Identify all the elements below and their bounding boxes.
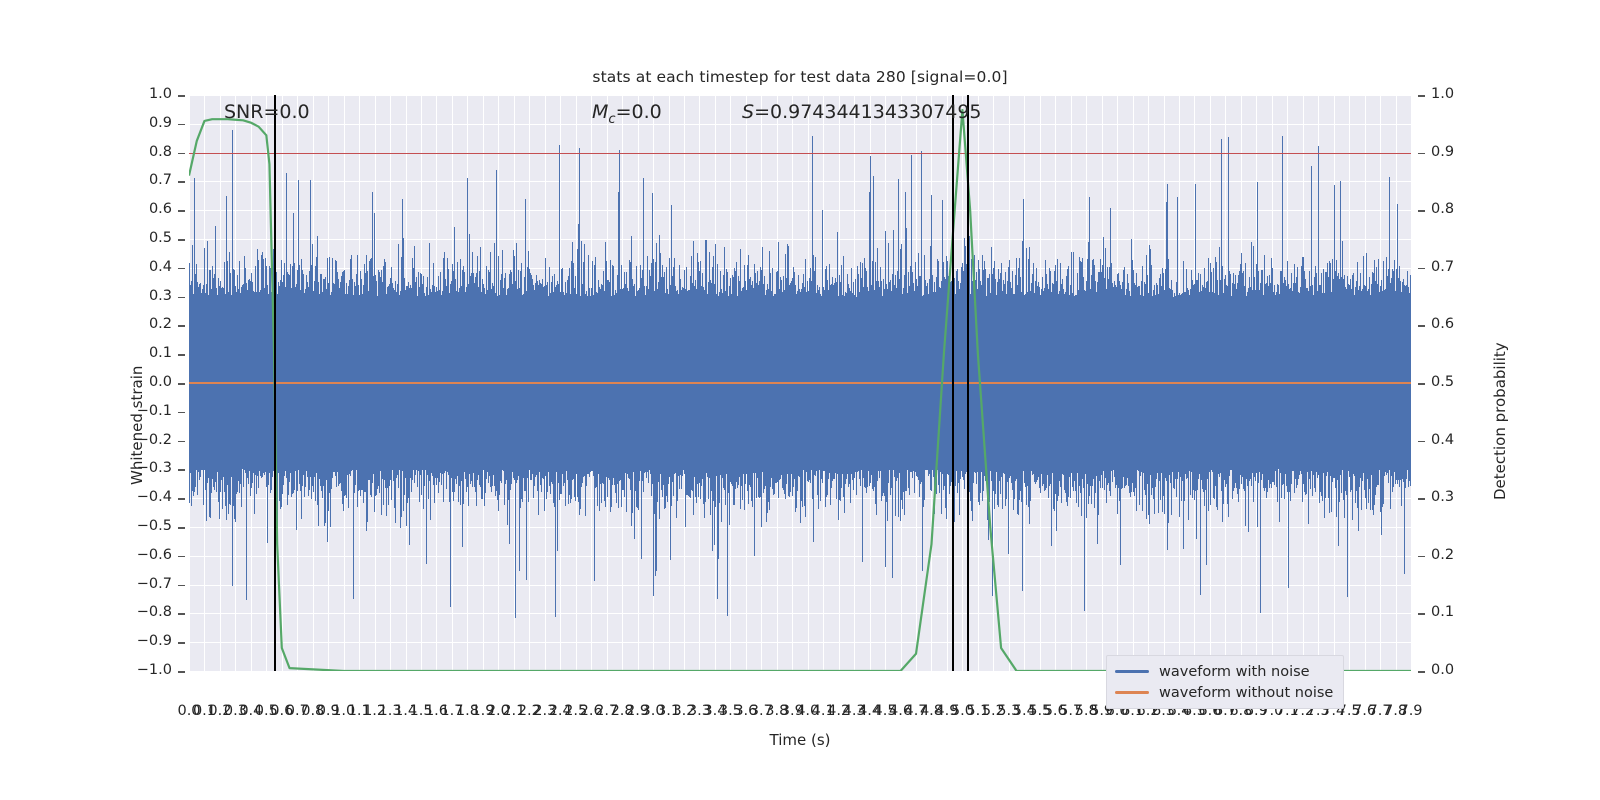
annotation-snr: SNR=0.0: [224, 101, 310, 123]
y-axis-left-tick-mark: [178, 181, 185, 183]
y-axis-left-tick-mark: [178, 585, 185, 587]
y-axis-right-tick-mark: [1418, 268, 1425, 270]
y-axis-right-tick-label: 0.4: [1431, 432, 1454, 448]
y-axis-left-tick-mark: [178, 412, 185, 414]
y-axis-left-tick-label: −0.4: [0, 489, 172, 505]
legend-swatch: [1115, 670, 1149, 673]
y-axis-right-tick-label: 0.2: [1431, 547, 1454, 563]
y-axis-left-tick-mark: [178, 469, 185, 471]
y-axis-right-tick-label: 0.9: [1431, 144, 1454, 160]
y-axis-right-tick-label: 0.6: [1431, 316, 1454, 332]
event-marker-line: [967, 95, 969, 671]
y-axis-left-tick-label: −0.3: [0, 460, 172, 476]
x-axis-tick-label: 7.9: [1399, 703, 1422, 719]
y-axis-right-tick-label: 0.8: [1431, 201, 1454, 217]
y-axis-left-tick-mark: [178, 297, 185, 299]
y-axis-left-tick-label: −0.5: [0, 518, 172, 534]
y-axis-left-tick-mark: [178, 325, 185, 327]
y-axis-left-tick-label: 0.1: [0, 345, 172, 361]
y-axis-left-tick-mark: [178, 642, 185, 644]
y-axis-right-tick-mark: [1418, 95, 1425, 97]
legend-item: waveform with noise: [1115, 661, 1333, 682]
y-axis-left-tick-label: −0.7: [0, 576, 172, 592]
y-axis-left-tick-mark: [178, 527, 185, 529]
y-axis-left-tick-label: −0.8: [0, 604, 172, 620]
y-axis-left-tick-mark: [178, 124, 185, 126]
annotation-chirp-mass-symbol: M: [592, 101, 608, 123]
y-axis-left-tick-label: 0.3: [0, 288, 172, 304]
y-axis-right-tick-mark: [1418, 613, 1425, 615]
y-axis-left-tick-label: 0.8: [0, 144, 172, 160]
annotation-chirp-mass: Mc=0.0: [592, 101, 662, 127]
y-axis-right-tick-mark: [1418, 441, 1425, 443]
y-axis-right-tick-mark: [1418, 210, 1425, 212]
y-axis-left-tick-label: 0.4: [0, 259, 172, 275]
y-axis-left-tick-mark: [178, 613, 185, 615]
y-axis-left-tick-mark: [178, 556, 185, 558]
figure: stats at each timestep for test data 280…: [0, 0, 1600, 800]
y-axis-left-tick-mark: [178, 268, 185, 270]
y-axis-left-tick-label: 0.7: [0, 172, 172, 188]
event-marker-line: [952, 95, 954, 671]
y-axis-left-tick-mark: [178, 153, 185, 155]
y-axis-left-tick-label: 0.0: [0, 374, 172, 390]
plot-area: [189, 95, 1411, 671]
y-axis-right-tick-mark: [1418, 383, 1425, 385]
y-axis-right-tick-label: 0.1: [1431, 604, 1454, 620]
y-axis-right-tick-label: 0.0: [1431, 662, 1454, 678]
annotation-score: S=0.9743441343307495: [742, 101, 982, 123]
y-axis-left-tick-mark: [178, 239, 185, 241]
y-axis-right-tick-label: 0.5: [1431, 374, 1454, 390]
legend: waveform with noisewaveform without nois…: [1106, 655, 1344, 709]
detection-probability-series: [189, 95, 1411, 671]
y-axis-right-tick-label: 0.7: [1431, 259, 1454, 275]
y-axis-left-tick-mark: [178, 441, 185, 443]
y-axis-left-tick-mark: [178, 671, 185, 673]
annotation-chirp-mass-value: =0.0: [616, 101, 662, 123]
y-axis-left-tick-label: −0.9: [0, 633, 172, 649]
y-axis-left-tick-label: −1.0: [0, 662, 172, 678]
probability-curve: [189, 110, 1411, 671]
y-axis-left-tick-label: 1.0: [0, 86, 172, 102]
y-axis-right-label: Detection probability: [1491, 342, 1509, 500]
legend-item: waveform without noise: [1115, 682, 1333, 703]
y-axis-right-tick-mark: [1418, 325, 1425, 327]
legend-swatch: [1115, 691, 1149, 694]
y-axis-left-tick-label: 0.5: [0, 230, 172, 246]
y-axis-right-tick-label: 1.0: [1431, 86, 1454, 102]
chart-title: stats at each timestep for test data 280…: [0, 68, 1600, 86]
event-marker-line: [274, 95, 276, 671]
legend-label: waveform with noise: [1159, 664, 1310, 680]
y-axis-left-tick-mark: [178, 498, 185, 500]
y-axis-left-tick-label: −0.6: [0, 547, 172, 563]
y-axis-left-tick-label: −0.1: [0, 403, 172, 419]
legend-label: waveform without noise: [1159, 685, 1333, 701]
y-axis-left-tick-mark: [178, 354, 185, 356]
annotation-score-symbol: S: [742, 101, 754, 123]
y-axis-right-tick-label: 0.3: [1431, 489, 1454, 505]
y-axis-left-tick-label: 0.9: [0, 115, 172, 131]
y-axis-left-tick-mark: [178, 383, 185, 385]
y-axis-right-tick-mark: [1418, 556, 1425, 558]
y-axis-left-tick-label: 0.2: [0, 316, 172, 332]
annotation-chirp-mass-subscript: c: [608, 112, 615, 127]
x-axis-label: Time (s): [0, 731, 1600, 749]
annotation-score-value: =0.9743441343307495: [754, 101, 981, 123]
y-axis-right-tick-mark: [1418, 498, 1425, 500]
y-axis-left-tick-mark: [178, 95, 185, 97]
y-axis-left-tick-label: 0.6: [0, 201, 172, 217]
y-axis-right-tick-mark: [1418, 671, 1425, 673]
y-axis-left-tick-label: −0.2: [0, 432, 172, 448]
y-axis-left-label: Whitened strain: [128, 366, 146, 485]
y-axis-right-tick-mark: [1418, 153, 1425, 155]
y-axis-left-tick-mark: [178, 210, 185, 212]
